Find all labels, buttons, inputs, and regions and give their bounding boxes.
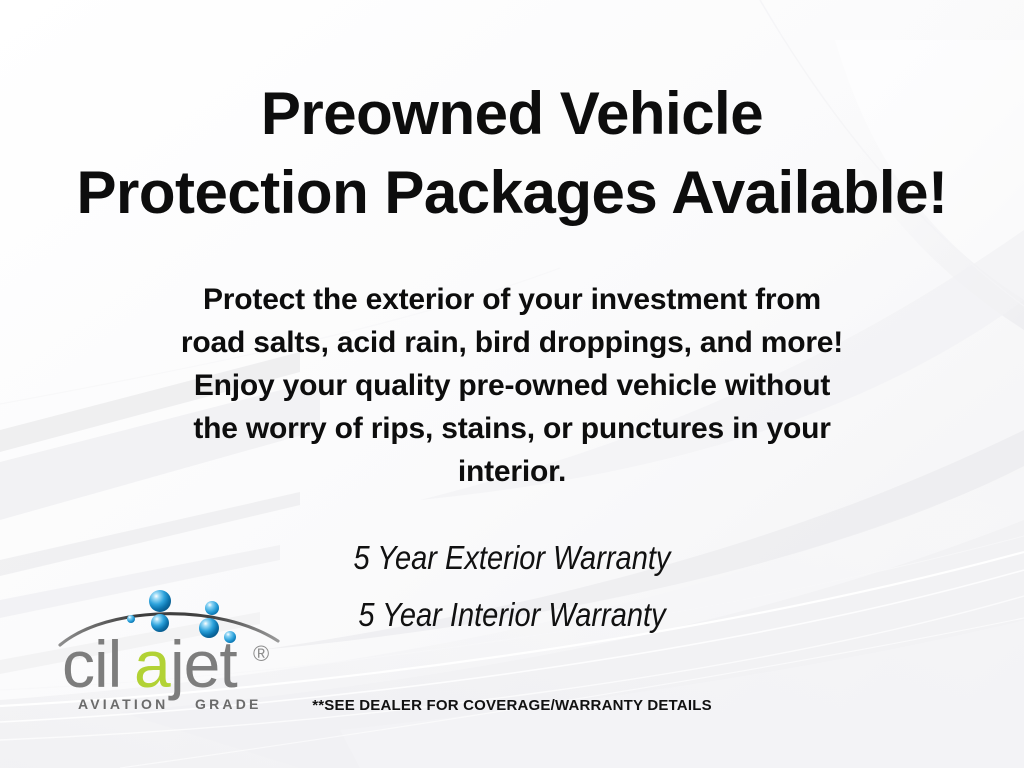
warranty-exterior: 5 Year Exterior Warranty [160, 529, 864, 586]
cilajet-logo: cil a jet ® AVIATION GRADE [52, 583, 292, 715]
page-title: Preowned Vehicle Protection Packages Ava… [0, 74, 1024, 232]
logo-text-jet: jet [168, 627, 237, 701]
body-copy-line-1: Protect the exterior of your investment … [112, 278, 912, 321]
page-title-line-2: Protection Packages Available! [0, 153, 1024, 232]
body-copy: Protect the exterior of your investment … [112, 278, 912, 493]
logo-text-cil: cil [62, 627, 121, 701]
body-copy-line-4: the worry of rips, stains, or punctures … [112, 407, 912, 450]
bead-small-1 [127, 615, 135, 623]
slide-canvas: Preowned Vehicle Protection Packages Ava… [0, 0, 1024, 768]
logo-text-a-accent: a [134, 627, 171, 701]
logo-tagline-aviation: AVIATION [78, 696, 168, 712]
page-title-line-1: Preowned Vehicle [0, 74, 1024, 153]
bead-medium-1 [205, 601, 219, 615]
body-copy-line-5: interior. [112, 450, 912, 493]
body-copy-line-2: road salts, acid rain, bird droppings, a… [112, 321, 912, 364]
logo-registered-icon: ® [253, 641, 269, 666]
bead-large-1 [149, 590, 171, 612]
body-copy-line-3: Enjoy your quality pre-owned vehicle wit… [112, 364, 912, 407]
logo-tagline-grade: GRADE [195, 696, 262, 712]
logo-wordmark: cil a jet ® [62, 627, 269, 701]
